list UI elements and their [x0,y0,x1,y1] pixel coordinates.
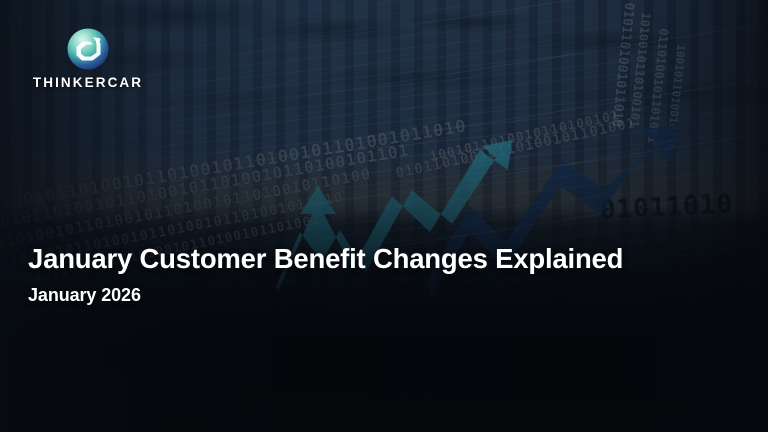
slide-content: THINKERCAR January Customer Benefit Chan… [0,0,768,432]
slide-title: January Customer Benefit Changes Explain… [28,243,728,275]
title-slide: 0100101101001011010010110100101101001011… [0,0,768,432]
headline-block: January Customer Benefit Changes Explain… [28,243,728,306]
brand-wordmark: THINKERCAR [28,76,148,90]
brand-lockup: THINKERCAR [28,26,148,90]
thinkercar-logo-icon [65,26,111,72]
slide-subtitle: January 2026 [28,285,728,307]
